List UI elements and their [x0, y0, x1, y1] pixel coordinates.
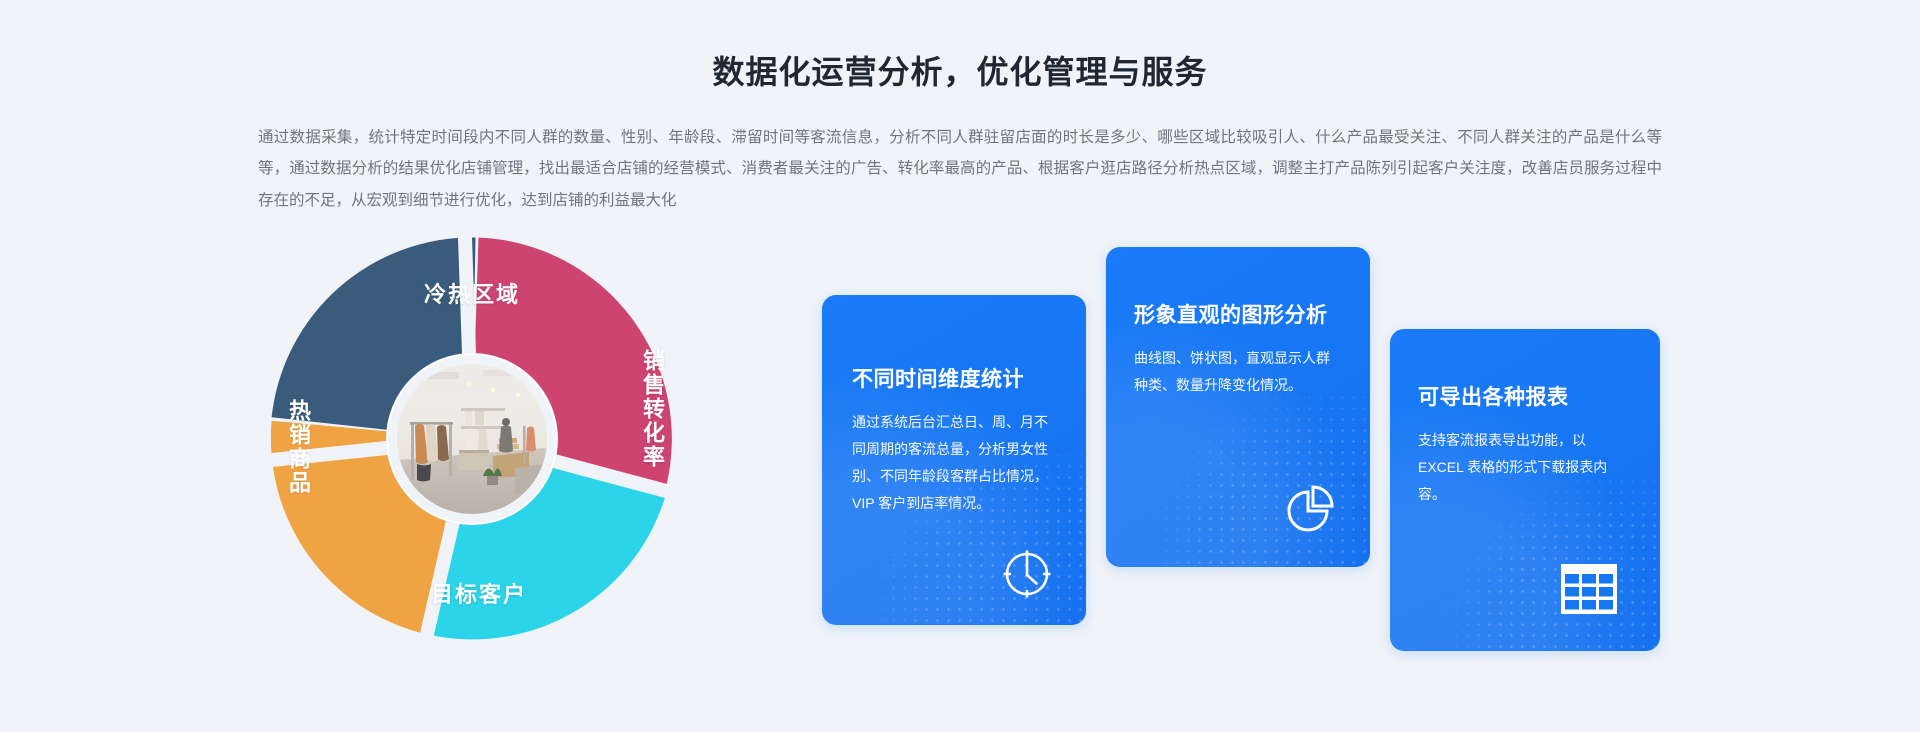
card-2-description: 曲线图、饼状图，直观显示人群种类、数量升降变化情况。 [1134, 345, 1342, 399]
card-3-body: 可导出各种报表 支持客流报表导出功能，以 EXCEL 表格的形式下载报表内容。 [1390, 329, 1660, 508]
clock-icon [998, 545, 1056, 603]
donut-label-hot-products: 热销商品 [284, 399, 310, 495]
feature-card-report-export[interactable]: 可导出各种报表 支持客流报表导出功能，以 EXCEL 表格的形式下载报表内容。 [1390, 329, 1660, 651]
page-title: 数据化运营分析，优化管理与服务 [0, 52, 1920, 94]
page-intro-paragraph: 通过数据采集，统计特定时间段内不同人群的数量、性别、年龄段、滞留时间等客流信息，… [258, 122, 1662, 217]
card-3-description: 支持客流报表导出功能，以 EXCEL 表格的形式下载报表内容。 [1418, 427, 1632, 508]
feature-card-time-statistics[interactable]: 不同时间维度统计 通过系统后台汇总日、周、月不同周期的客流总量，分析男女性别、不… [822, 295, 1086, 625]
card-1-description: 通过系统后台汇总日、周、月不同周期的客流总量，分析男女性别、不同年龄段客群占比情… [852, 409, 1056, 517]
donut-diagram: 冷热区域 销售转化率 目标客户 热销商品 [262, 229, 682, 649]
card-2-body: 形象直观的图形分析 曲线图、饼状图，直观显示人群种类、数量升降变化情况。 [1106, 247, 1370, 399]
card-2-title: 形象直观的图形分析 [1134, 299, 1342, 329]
feature-card-graphical-analysis[interactable]: 形象直观的图形分析 曲线图、饼状图，直观显示人群种类、数量升降变化情况。 [1106, 247, 1370, 567]
card-3-title: 可导出各种报表 [1418, 381, 1632, 411]
pie-chart-icon [1278, 481, 1334, 537]
store-photo [397, 364, 547, 514]
content-stage: 冷热区域 销售转化率 目标客户 热销商品 不同时间维度统计 通过系统后台汇总日、… [0, 217, 1920, 687]
store-photo-illustration [397, 364, 547, 514]
page-header: 数据化运营分析，优化管理与服务 通过数据采集，统计特定时间段内不同人群的数量、性… [0, 0, 1920, 217]
donut-label-conversion-rate: 销售转化率 [638, 349, 664, 469]
donut-label-target-customer: 目标客户 [276, 577, 682, 609]
table-grid-icon [1560, 563, 1618, 615]
card-1-body: 不同时间维度统计 通过系统后台汇总日、周、月不同周期的客流总量，分析男女性别、不… [822, 295, 1086, 517]
card-1-title: 不同时间维度统计 [852, 363, 1056, 393]
donut-label-cold-hot-zone: 冷热区域 [262, 277, 682, 309]
